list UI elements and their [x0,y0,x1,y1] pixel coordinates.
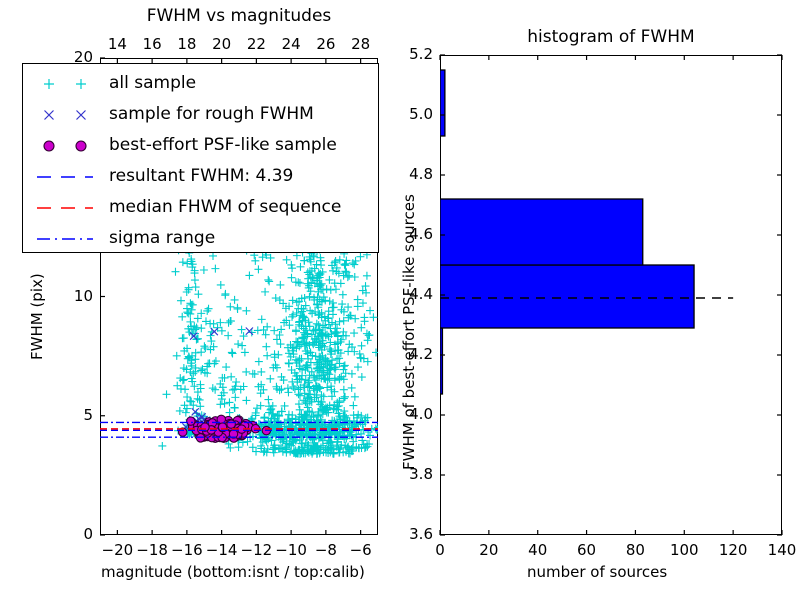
legend-item: resultant FWHM: 4.39 [29,161,378,192]
right-panel-xlabel: number of sources [527,563,667,581]
histogram-bar [440,199,643,265]
legend-item: sigma range [29,223,378,254]
right-ytick-6: 4.8 [409,165,433,183]
legend-item: all sample [29,68,378,99]
legend-item: median FHWM of sequence [29,192,378,223]
legend-item: sample for rough FWHM [29,99,378,130]
histogram-bar [440,265,694,328]
legend-item-label: median FHWM of sequence [109,199,341,216]
right-ytick-0: 3.6 [409,525,433,543]
right-xtick-3: 60 [577,541,596,559]
right-xtick-4: 80 [626,541,645,559]
figure-canvas: FWHM vs magnitudes FWHM (pix) magnitude … [0,0,800,600]
right-ytick-2: 4.0 [409,405,433,423]
legend-marker-dashed-icon [29,192,109,223]
right-xtick-7: 140 [768,541,797,559]
right-xtick-1: 20 [479,541,498,559]
legend-marker-dashed-icon [29,161,109,192]
right-xtick-6: 120 [719,541,748,559]
right-ytick-3: 4.2 [409,345,433,363]
legend-item-label: sample for rough FWHM [109,106,314,123]
legend-item-label: best-effort PSF-like sample [109,137,337,154]
right-ytick-7: 5.0 [409,105,433,123]
legend-item: best-effort PSF-like sample [29,130,378,161]
right-ytick-5: 4.6 [409,225,433,243]
right-xtick-0: 0 [435,541,445,559]
legend-marker-dashdot-icon [29,223,109,254]
right-xtick-2: 40 [528,541,547,559]
legend-item-label: all sample [109,75,196,92]
legend-marker-plus-icon [29,68,109,99]
legend-marker-dot-icon [29,130,109,161]
right-xtick-5: 100 [670,541,699,559]
legend-box: all samplesample for rough FWHMbest-effo… [22,63,379,253]
right-ytick-1: 3.8 [409,465,433,483]
histogram-bar [440,70,445,136]
legend-marker-cross-icon [29,99,109,130]
legend-item-label: sigma range [109,230,215,247]
legend-item-label: resultant FWHM: 4.39 [109,168,293,185]
right-ytick-4: 4.4 [409,285,433,303]
right-ytick-8: 5.2 [409,45,433,63]
histogram-bar [440,328,442,394]
